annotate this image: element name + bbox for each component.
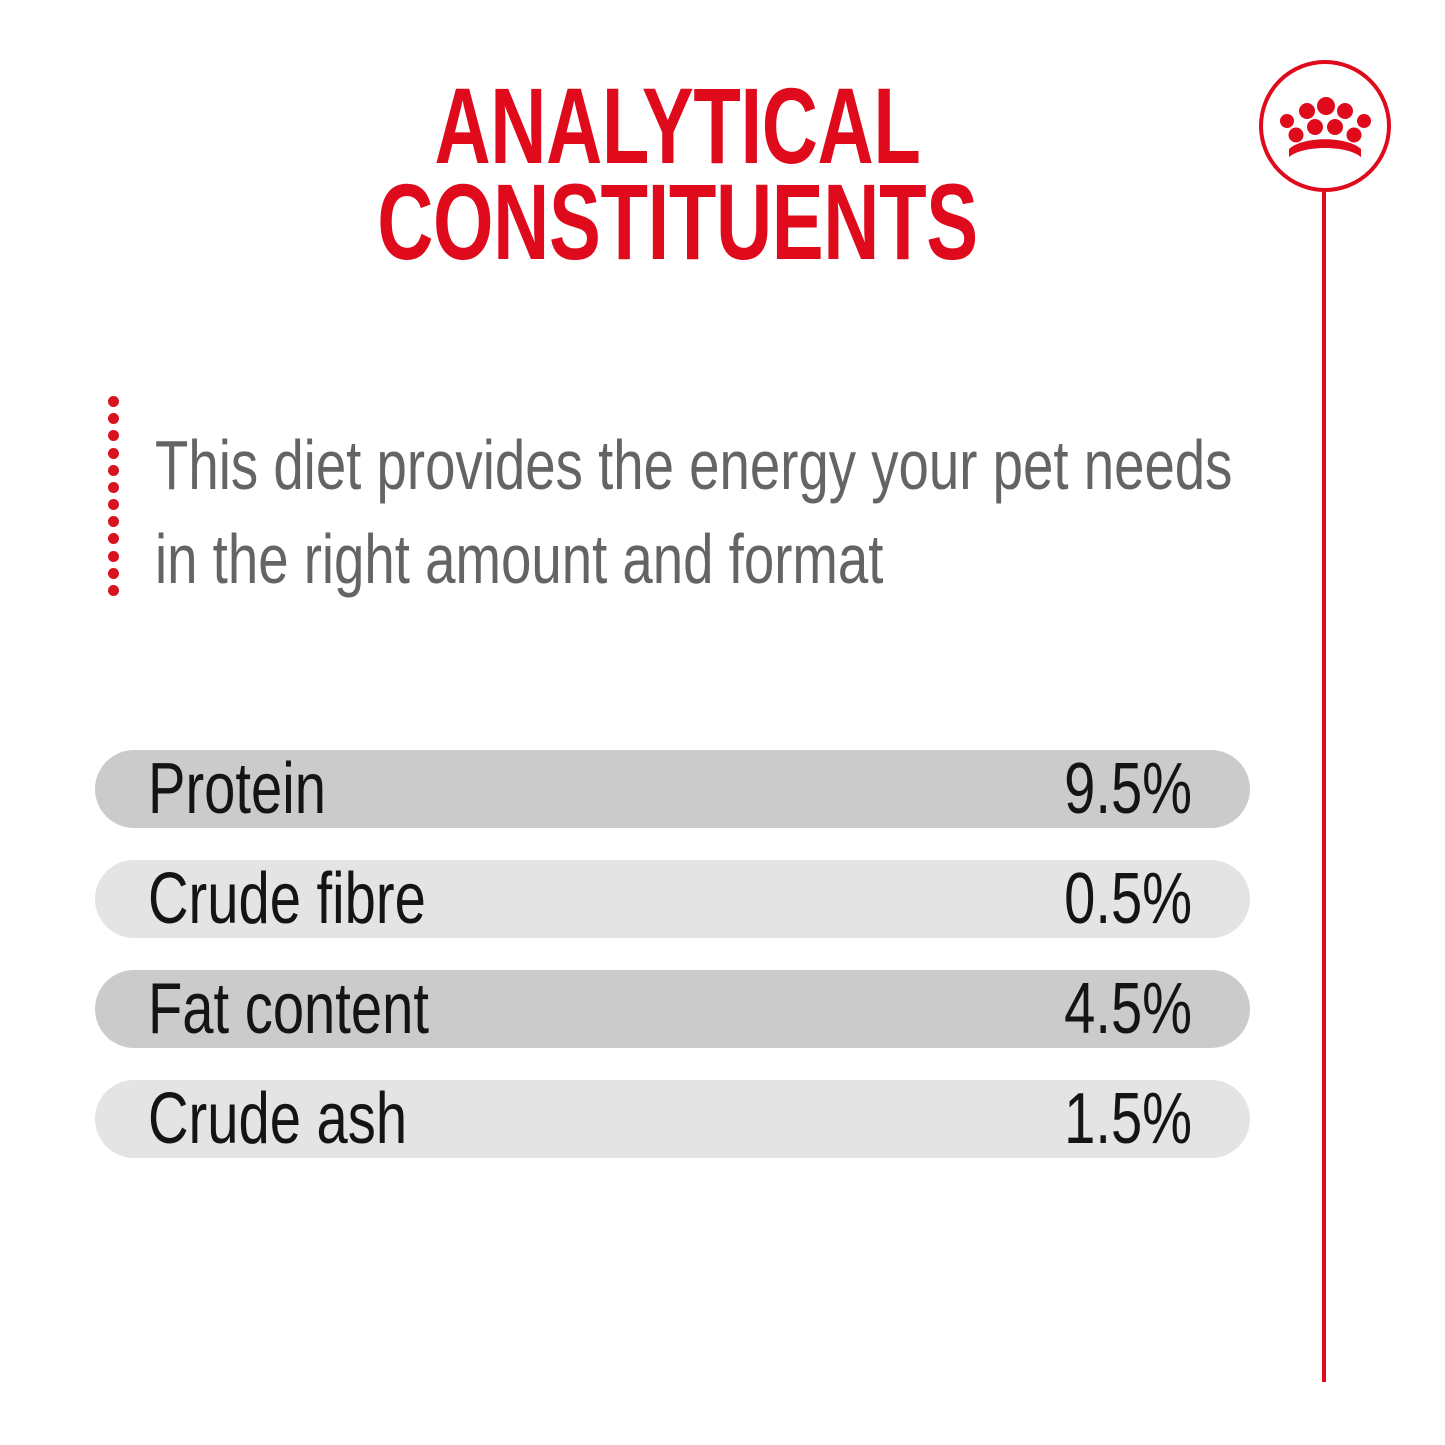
- logo-stem-line: [1322, 192, 1326, 1382]
- intro-text: This diet provides the energy your pet n…: [155, 418, 1215, 606]
- table-row: Crude fibre 0.5%: [95, 860, 1250, 938]
- page-title-line-2: CONSTITUENTS: [298, 174, 1058, 270]
- constituent-label: Protein: [148, 750, 326, 828]
- constituents-table: Protein 9.5% Crude fibre 0.5% Fat conten…: [95, 750, 1250, 1158]
- page-title-line-1: ANALYTICAL: [298, 78, 1058, 174]
- constituent-value: 9.5%: [1064, 750, 1192, 828]
- page-title: ANALYTICAL CONSTITUENTS: [150, 78, 1205, 270]
- table-row: Protein 9.5%: [95, 750, 1250, 828]
- constituent-value: 4.5%: [1064, 970, 1192, 1048]
- crown-dots-icon: [1279, 95, 1371, 157]
- royal-canin-crown-icon: [1259, 60, 1391, 192]
- table-row: Crude ash 1.5%: [95, 1080, 1250, 1158]
- intro-line-1: This diet provides the energy your pet n…: [155, 418, 982, 512]
- analytical-constituents-panel: ANALYTICAL CONSTITUENTS: [0, 0, 1445, 1445]
- constituent-value: 0.5%: [1064, 860, 1192, 938]
- constituent-value: 1.5%: [1064, 1080, 1192, 1158]
- constituent-label: Fat content: [148, 970, 429, 1048]
- dotted-accent-rule: [108, 396, 119, 596]
- table-row: Fat content 4.5%: [95, 970, 1250, 1048]
- constituent-label: Crude fibre: [148, 860, 426, 938]
- constituent-label: Crude ash: [148, 1080, 407, 1158]
- intro-line-2: in the right amount and format: [155, 512, 982, 606]
